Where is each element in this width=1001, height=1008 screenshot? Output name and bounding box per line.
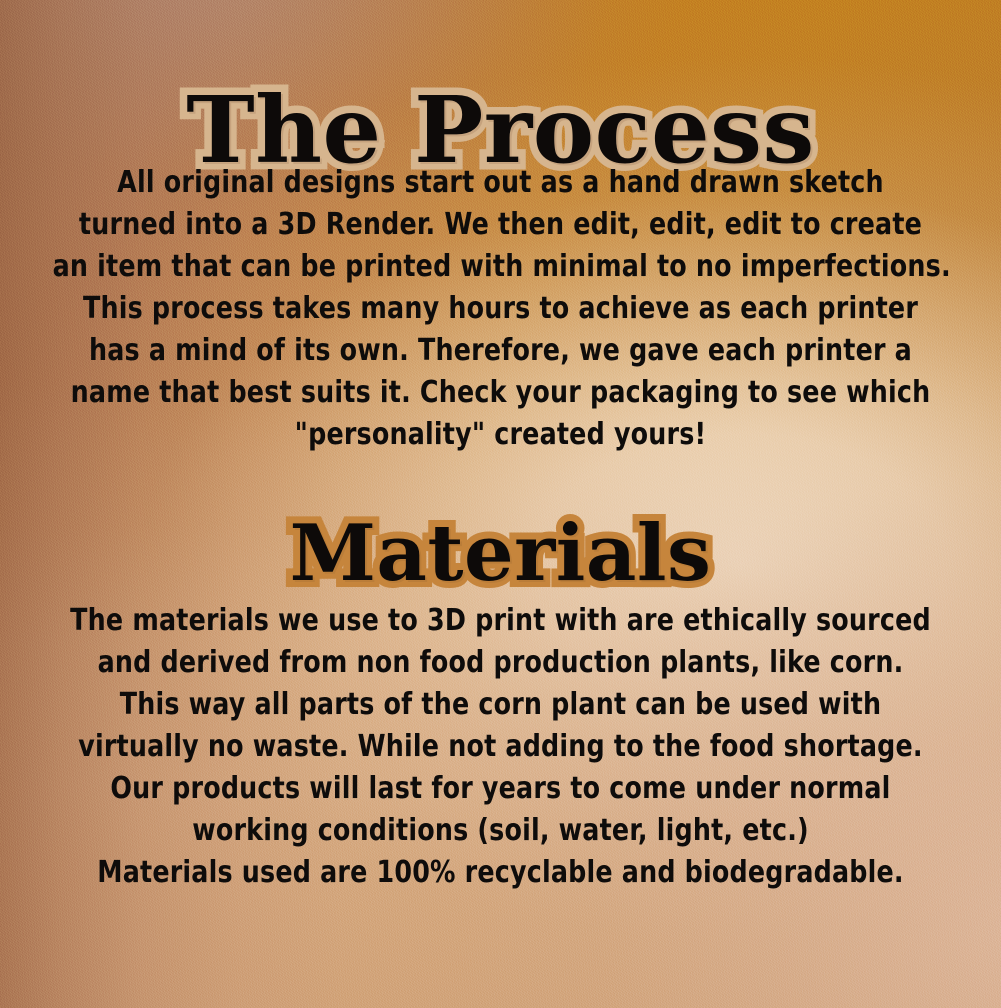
paragraph-line: This way all parts of the corn plant can… [53, 684, 949, 726]
paragraph-line: All original designs start out as a hand… [53, 162, 949, 204]
paragraph-line: and derived from non food production pla… [53, 642, 949, 684]
paragraph-line: "personality" created yours! [53, 414, 949, 456]
paragraph-line: Materials used are 100% recyclable and b… [53, 852, 949, 894]
paragraph-line: turned into a 3D Render. We then edit, e… [53, 204, 949, 246]
paragraph-line: working conditions (soil, water, light, … [53, 810, 949, 852]
poster-content: The Process All original designs start o… [0, 0, 1001, 1008]
heading-materials: Materials [0, 515, 1001, 593]
paragraph-line: name that best suits it. Check your pack… [53, 372, 949, 414]
paragraph-line: has a mind of its own. Therefore, we gav… [53, 330, 949, 372]
paragraph-the-process: All original designs start out as a hand… [53, 162, 949, 456]
paragraph-line: an item that can be printed with minimal… [53, 246, 949, 288]
paragraph-line: The materials we use to 3D print with ar… [53, 600, 949, 642]
paragraph-line: virtually no waste. While not adding to … [53, 726, 949, 768]
paragraph-line: This process takes many hours to achieve… [53, 288, 949, 330]
poster-canvas: The Process All original designs start o… [0, 0, 1001, 1008]
paragraph-materials: The materials we use to 3D print with ar… [53, 600, 949, 894]
paragraph-line: Our products will last for years to come… [53, 768, 949, 810]
